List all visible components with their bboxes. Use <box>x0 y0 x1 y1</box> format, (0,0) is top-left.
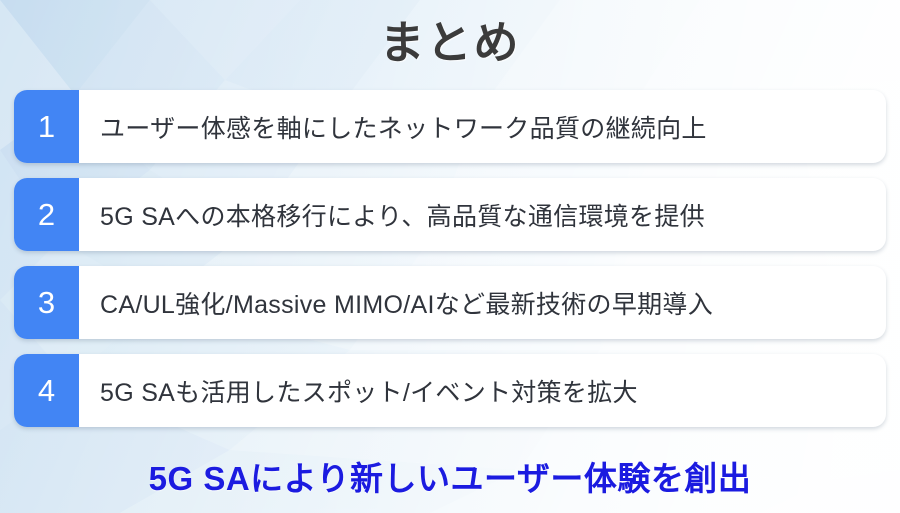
item-label: 5G SAへの本格移行により、高品質な通信環境を提供 <box>79 178 886 251</box>
item-number-badge: 1 <box>14 90 79 163</box>
summary-slide: まとめ 1 ユーザー体感を軸にしたネットワーク品質の継続向上 2 5G SAへの… <box>0 0 900 513</box>
list-item[interactable]: 3 CA/UL強化/Massive MIMO/AIなど最新技術の早期導入 <box>14 266 886 339</box>
footer-highlight: 5G SAにより新しいユーザー体験を創出 <box>0 452 900 500</box>
page-title: まとめ <box>0 6 900 71</box>
list-item[interactable]: 2 5G SAへの本格移行により、高品質な通信環境を提供 <box>14 178 886 251</box>
summary-list: 1 ユーザー体感を軸にしたネットワーク品質の継続向上 2 5G SAへの本格移行… <box>14 90 886 442</box>
item-label: 5G SAも活用したスポット/イベント対策を拡大 <box>79 354 886 427</box>
item-label: CA/UL強化/Massive MIMO/AIなど最新技術の早期導入 <box>79 266 886 339</box>
item-number-badge: 2 <box>14 178 79 251</box>
item-number-badge: 3 <box>14 266 79 339</box>
item-number-badge: 4 <box>14 354 79 427</box>
list-item[interactable]: 1 ユーザー体感を軸にしたネットワーク品質の継続向上 <box>14 90 886 163</box>
item-label: ユーザー体感を軸にしたネットワーク品質の継続向上 <box>79 90 886 163</box>
list-item[interactable]: 4 5G SAも活用したスポット/イベント対策を拡大 <box>14 354 886 427</box>
